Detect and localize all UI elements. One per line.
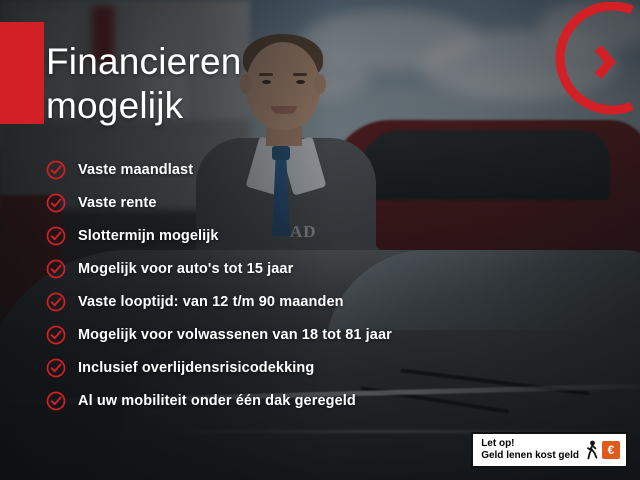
- headline-line-1: Financieren: [46, 40, 466, 84]
- warning-icons: €: [585, 440, 620, 460]
- check-circle-icon: [46, 160, 66, 180]
- list-item-label: Inclusief overlijdensrisicodekking: [78, 360, 314, 376]
- list-item: Mogelijk voor volwassenen van 18 tot 81 …: [46, 319, 606, 351]
- list-item-label: Mogelijk voor volwassenen van 18 tot 81 …: [78, 327, 392, 343]
- list-item: Vaste rente: [46, 187, 606, 219]
- list-item: Slottermijn mogelijk: [46, 220, 606, 252]
- check-circle-icon: [46, 325, 66, 345]
- euro-badge-icon: €: [602, 441, 620, 459]
- list-item-label: Vaste rente: [78, 195, 156, 211]
- list-item-label: Al uw mobiliteit onder één dak geregeld: [78, 393, 356, 409]
- check-circle-icon: [46, 226, 66, 246]
- walking-person-icon: [585, 440, 599, 460]
- warning-line-2: Geld lenen kost geld: [481, 450, 579, 462]
- red-arc-icon: [536, 2, 636, 122]
- list-item: Inclusief overlijdensrisicodekking: [46, 352, 606, 384]
- list-item: Vaste looptijd: van 12 t/m 90 maanden: [46, 286, 606, 318]
- red-square-accent: [0, 22, 44, 124]
- list-item: Al uw mobiliteit onder één dak geregeld: [46, 385, 606, 417]
- check-circle-icon: [46, 259, 66, 279]
- headline-line-2: mogelijk: [46, 84, 466, 128]
- status-badge: Let op! Geld lenen kost geld €: [471, 432, 628, 468]
- list-item: Vaste maandlast: [46, 154, 606, 186]
- page-title: Financieren mogelijk: [46, 40, 466, 127]
- warning-text: Let op! Geld lenen kost geld: [481, 438, 579, 462]
- warning-line-1: Let op!: [481, 438, 579, 450]
- list-item: Mogelijk voor auto's tot 15 jaar: [46, 253, 606, 285]
- promo-banner: AD Financieren mogelijk: [0, 0, 640, 480]
- list-item-label: Vaste looptijd: van 12 t/m 90 maanden: [78, 294, 344, 310]
- list-item-label: Slottermijn mogelijk: [78, 228, 219, 244]
- feature-list: Vaste maandlast Vaste rente Slottermijn …: [46, 154, 606, 418]
- check-circle-icon: [46, 358, 66, 378]
- check-circle-icon: [46, 193, 66, 213]
- list-item-label: Vaste maandlast: [78, 162, 193, 178]
- list-item-label: Mogelijk voor auto's tot 15 jaar: [78, 261, 293, 277]
- check-circle-icon: [46, 292, 66, 312]
- check-circle-icon: [46, 391, 66, 411]
